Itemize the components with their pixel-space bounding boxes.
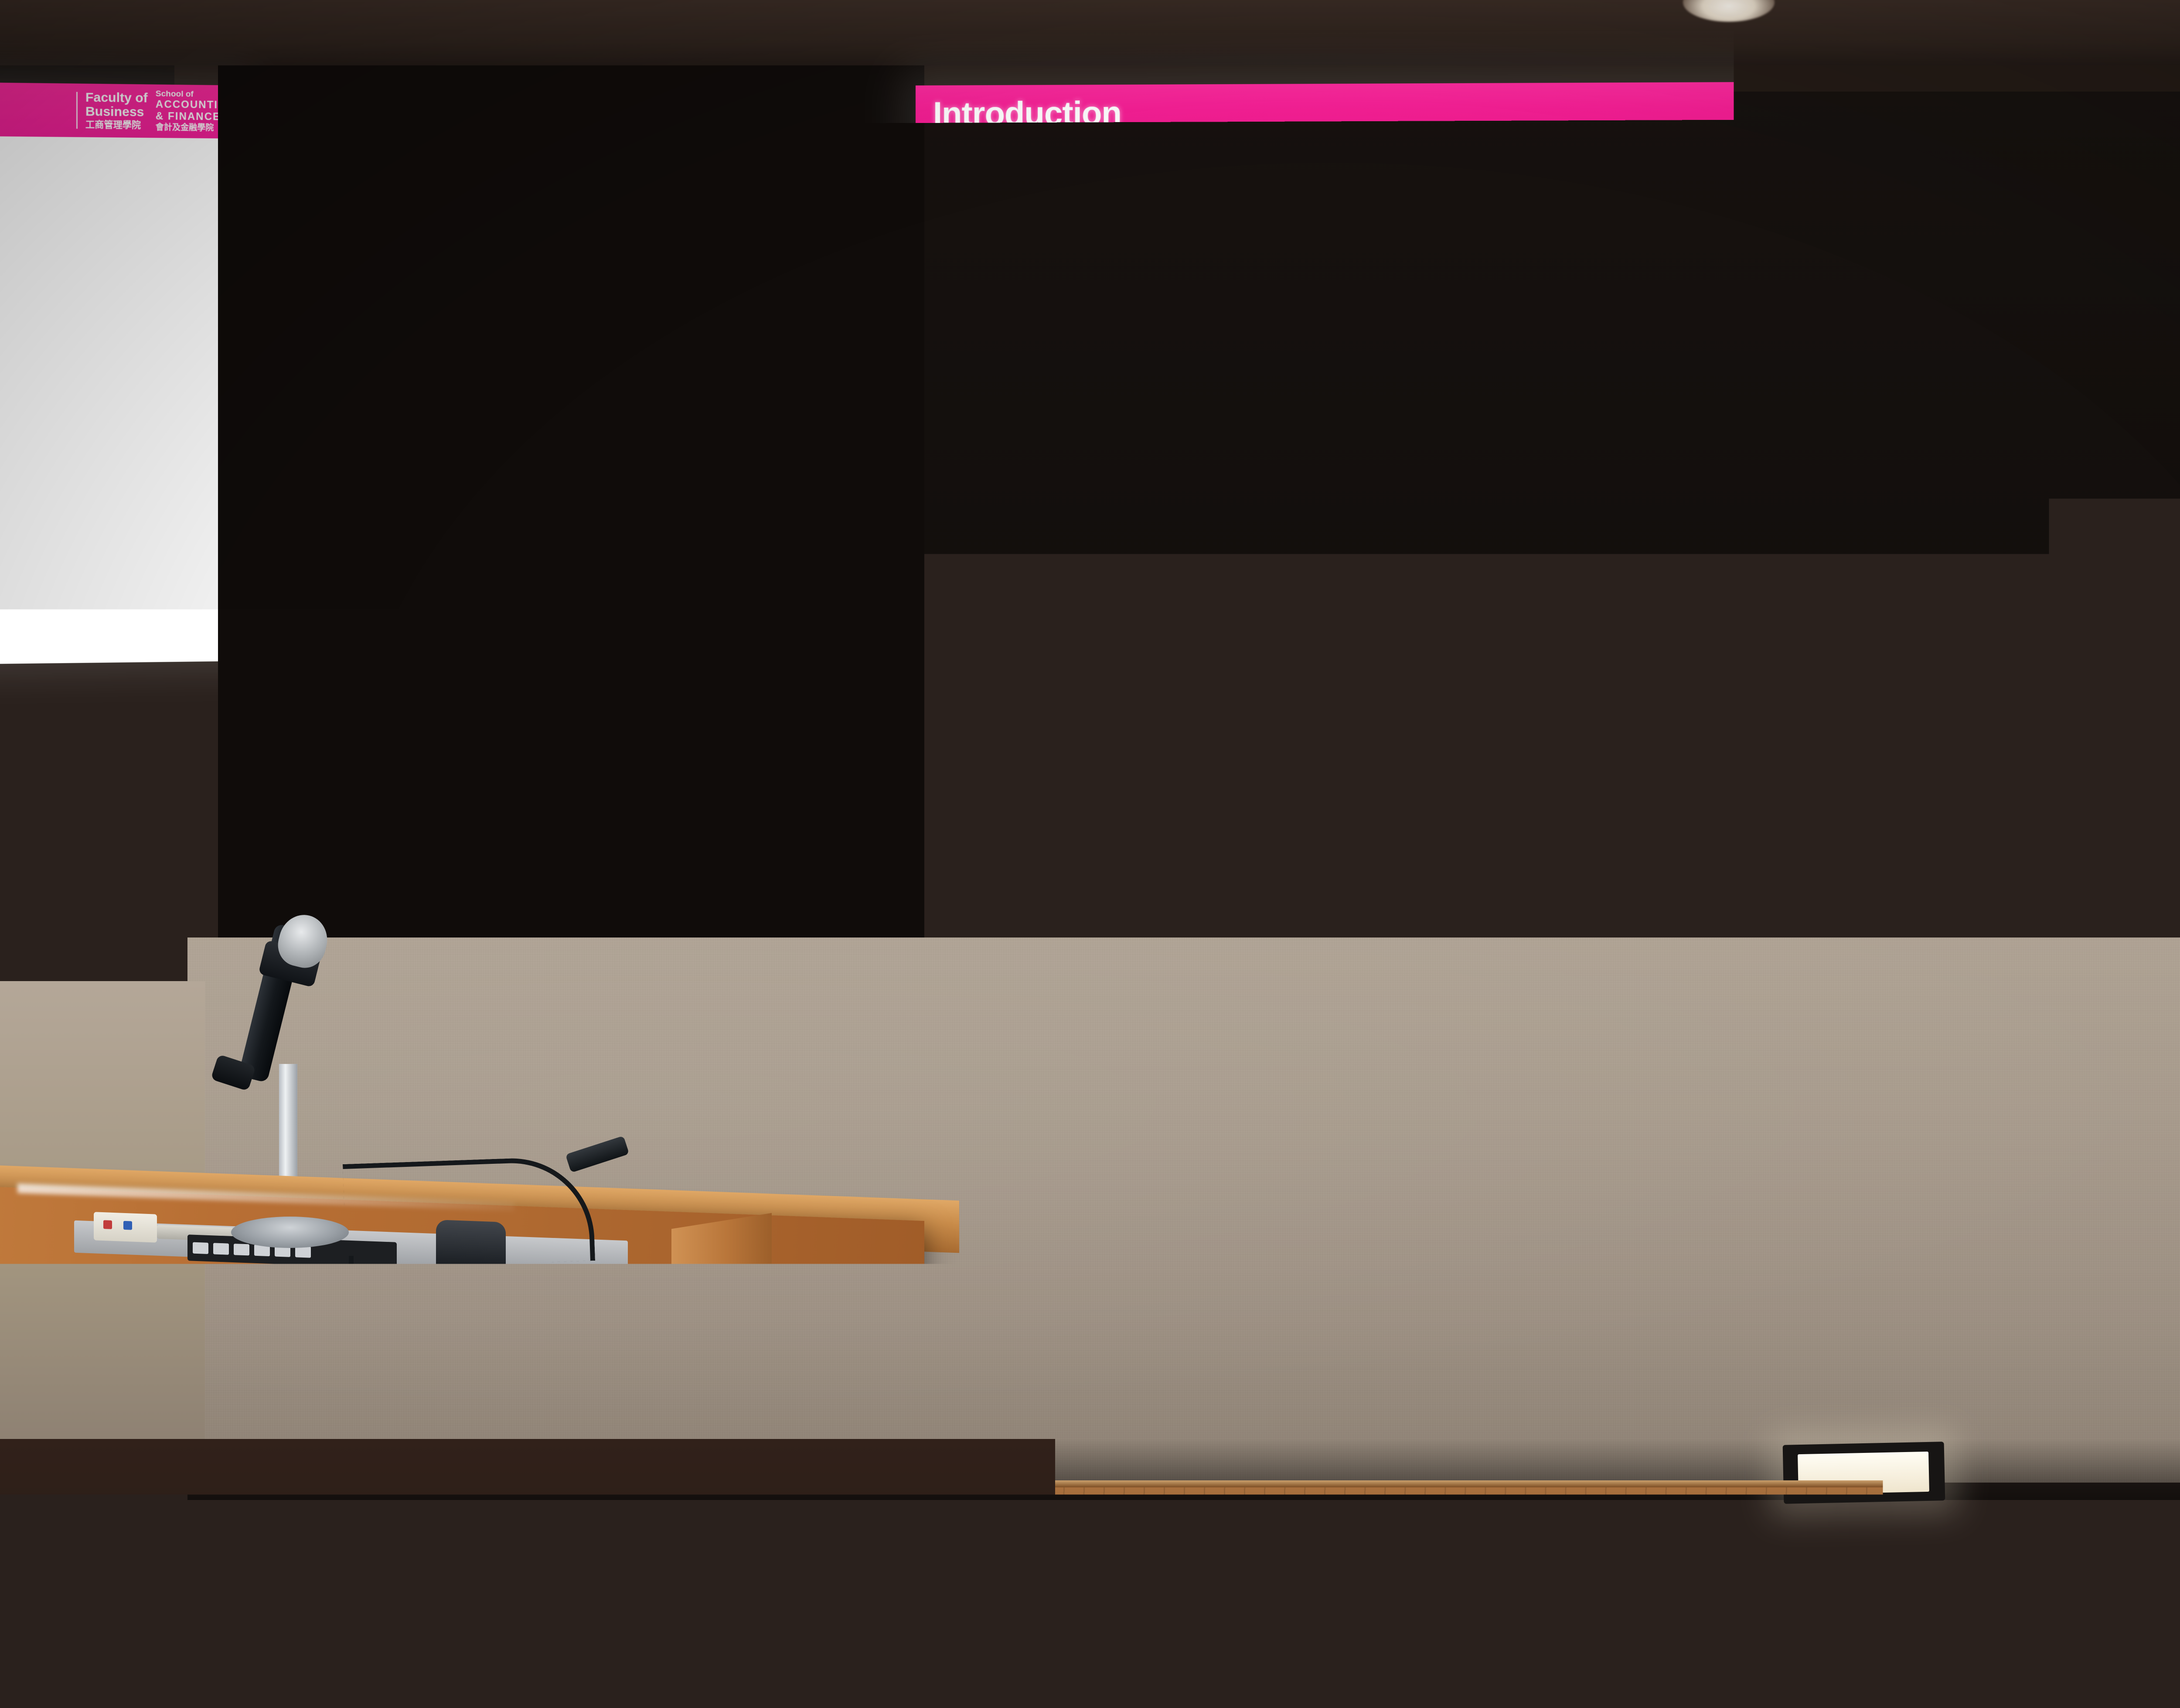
microphone-cable: [349, 1256, 537, 1317]
bullet-text: CECL increases loan spreads for firms se…: [1050, 261, 1794, 300]
lecture-hall-scene: Faculty of Business 工商管理學院 School of ACC…: [0, 0, 2180, 1708]
presenter-nose: [1186, 876, 1211, 916]
keypad-key[interactable]: [234, 1244, 249, 1255]
keypad-key[interactable]: [213, 1243, 229, 1255]
ceiling: [0, 0, 2180, 76]
secondary-projection-screen: Faculty of Business 工商管理學院 School of ACC…: [0, 80, 244, 666]
bullet-list: CECL increases loan spreads for firms se…: [1027, 259, 2180, 581]
bullet-body: : Higher demand for professional employe…: [1050, 386, 2180, 454]
keypad-key[interactable]: [193, 1242, 208, 1254]
microphone-stand-base: [231, 1217, 349, 1248]
bullet-text: Further Analyses: CECL prompts lead bank…: [1050, 482, 2180, 556]
list-item: CECL increases loan spreads for firms se…: [1027, 259, 2180, 300]
bullet-lead: Mechanism: [1050, 388, 1182, 418]
ceiling-light-icon: [1683, 0, 1775, 22]
bullet-dot-icon: [1027, 499, 1036, 508]
bullet-body: CECL effect is more pronounced for term …: [1050, 325, 1977, 357]
bullet-dot-icon: [1027, 401, 1036, 410]
list-item: CECL effect is more pronounced for term …: [1027, 321, 2180, 361]
brand-lockup: IDEAS Innovation-driven Education and Sc…: [2091, 79, 2180, 139]
remote-control[interactable]: [560, 1265, 643, 1290]
bullet-dot-icon: [1027, 278, 1036, 288]
faculty-chinese: 工商管理學院: [85, 120, 148, 131]
ideas-knot-icon: [2091, 85, 2130, 134]
brand-divider: [76, 92, 78, 129]
glasses-icon: [1113, 833, 1286, 875]
ideas-logo: IDEAS Innovation-driven Education and Sc…: [2139, 92, 2180, 127]
faculty-line-2: Business: [85, 105, 148, 119]
slide-title: Introduction: [933, 97, 1121, 131]
lectern-recess: [0, 1539, 698, 1708]
slide-title-banner: Introduction IDEAS Innovation-driven Edu…: [916, 79, 2180, 143]
glasses-lens-left: [1113, 833, 1192, 881]
ideas-tagline: Innovation-driven Education and Scholars…: [2139, 120, 2180, 127]
presenter: [855, 724, 1509, 1708]
bullet-text: CECL effect is more pronounced for term …: [1050, 322, 1977, 361]
handheld-microphone-ring: [1179, 1173, 1230, 1181]
section-heading: Main Results: [1042, 197, 1212, 230]
trousers: [1116, 1544, 1386, 1708]
presenter-mouth: [1165, 921, 1233, 947]
list-item: Further Analyses: CECL prompts lead bank…: [1027, 482, 2180, 556]
control-box[interactable]: [94, 1212, 157, 1242]
ideas-wordmark: IDEAS: [2139, 92, 2180, 118]
list-item: Mechanism: Higher demand for professiona…: [1027, 383, 2180, 459]
wall-between-screens: [218, 65, 924, 1025]
bullet-text: Mechanism: Higher demand for professiona…: [1050, 383, 2180, 459]
glasses-lens-right: [1207, 833, 1286, 881]
faculty-of-business-logo: Faculty of Business 工商管理學院: [85, 91, 148, 130]
gooseneck-microphone-arm: [343, 1156, 595, 1269]
bullet-body: CECL increases loan spreads for firms se…: [1050, 264, 1794, 296]
bullet-lead: Further Analyses:: [1050, 486, 1255, 515]
bullet-dot-icon: [1027, 340, 1036, 349]
faculty-line-1: Faculty of: [85, 91, 148, 105]
secondary-screen-banner: Faculty of Business 工商管理學院 School of ACC…: [0, 80, 244, 139]
presenter-hand-right: [1186, 1212, 1273, 1313]
